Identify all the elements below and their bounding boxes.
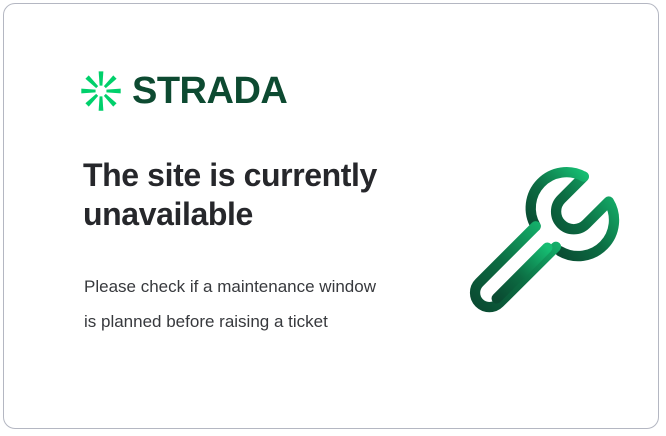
error-page-card: STRADA The site is currently unavailable… [3,3,659,429]
page-title: The site is currently unavailable [83,156,413,233]
brand-wordmark: STRADA [132,72,287,110]
page-description: Please check if a maintenance window is … [84,270,384,340]
brand-logo: STRADA [80,70,287,112]
strada-asterisk-icon [80,70,122,112]
